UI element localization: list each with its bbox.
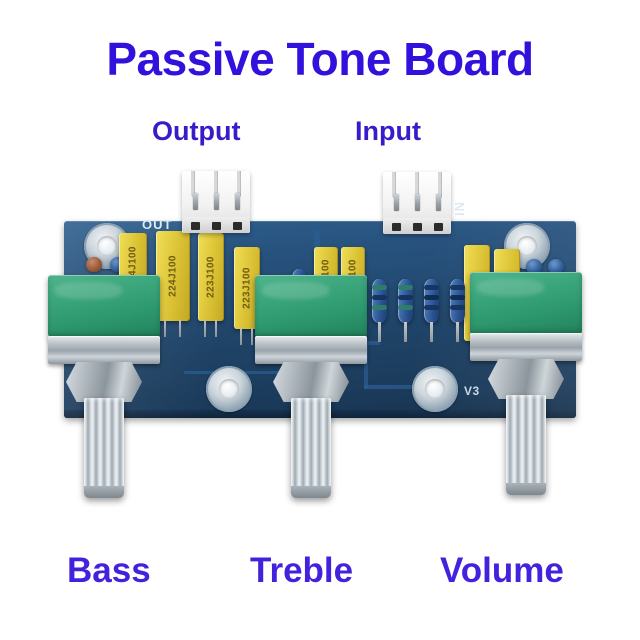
connector-pin	[394, 194, 399, 211]
resistor-band	[372, 285, 387, 290]
pot-plate	[470, 333, 582, 361]
pot-body	[48, 275, 160, 337]
capacitor-code: 224J100	[168, 255, 179, 297]
component-lead	[240, 328, 242, 345]
resistor-band	[424, 305, 439, 310]
connector-slot	[392, 223, 401, 231]
small-component	[86, 257, 102, 272]
page-title: Passive Tone Board	[0, 36, 640, 82]
pot-shaft[interactable]	[291, 398, 331, 498]
connector-base	[183, 217, 249, 233]
input-label: Input	[355, 116, 421, 147]
connector-slot	[233, 222, 242, 230]
connector-base	[384, 218, 450, 234]
label-treble: Treble	[250, 551, 353, 591]
resistor	[450, 279, 465, 323]
pot-shaft[interactable]	[506, 395, 546, 495]
component-lead	[179, 320, 181, 337]
resistor-band	[450, 285, 465, 290]
pot-nut	[273, 362, 349, 402]
capacitor-code: 223J100	[206, 256, 217, 298]
resistor-band	[424, 295, 439, 300]
silkscreen-in: IN	[452, 201, 467, 216]
potentiometer-volume[interactable]	[470, 272, 582, 495]
resistor-band	[398, 305, 413, 310]
connector-pin	[193, 193, 198, 210]
resistor-band	[372, 305, 387, 310]
product-photo: Passive Tone Board Output Input	[0, 0, 640, 640]
connector-slot	[413, 223, 422, 231]
resistor	[398, 279, 413, 323]
film-capacitor: 223J100	[198, 233, 224, 321]
component-lead	[404, 322, 407, 342]
input-connector	[383, 172, 451, 234]
resistor-band	[450, 305, 465, 310]
pot-nut	[488, 359, 564, 399]
resistor-band	[398, 295, 413, 300]
output-label: Output	[152, 116, 240, 147]
label-volume: Volume	[440, 551, 564, 591]
label-bass: Bass	[67, 551, 151, 591]
component-lead	[251, 328, 253, 345]
connector-slot	[212, 222, 221, 230]
connector-pin	[415, 194, 420, 211]
connector-pin	[214, 193, 219, 210]
connector-pin	[436, 194, 441, 211]
component-lead	[430, 322, 433, 342]
silkscreen-out: OUT	[142, 217, 172, 232]
component-lead	[204, 320, 206, 337]
pot-body	[255, 275, 367, 337]
film-capacitor: 224J100	[156, 231, 190, 321]
potentiometer-bass[interactable]	[48, 275, 160, 498]
mounting-hole	[206, 366, 252, 412]
component-lead	[378, 322, 381, 342]
pot-plate	[48, 336, 160, 364]
resistor	[424, 279, 439, 323]
connector-slot	[434, 223, 443, 231]
component-lead	[164, 320, 166, 337]
connector-pin	[235, 193, 240, 210]
resistor-band	[398, 285, 413, 290]
resistor-band	[424, 285, 439, 290]
pot-plate	[255, 336, 367, 364]
pot-body	[470, 272, 582, 334]
pot-nut	[66, 362, 142, 402]
resistor-band	[450, 295, 465, 300]
output-connector	[182, 171, 250, 233]
component-lead	[215, 320, 217, 337]
resistor-band	[372, 295, 387, 300]
potentiometer-treble[interactable]	[255, 275, 367, 498]
resistor	[372, 279, 387, 323]
component-lead	[456, 322, 459, 342]
pot-shaft[interactable]	[84, 398, 124, 498]
connector-slot	[191, 222, 200, 230]
mounting-hole	[412, 366, 458, 412]
capacitor-code: 223J100	[242, 267, 253, 309]
